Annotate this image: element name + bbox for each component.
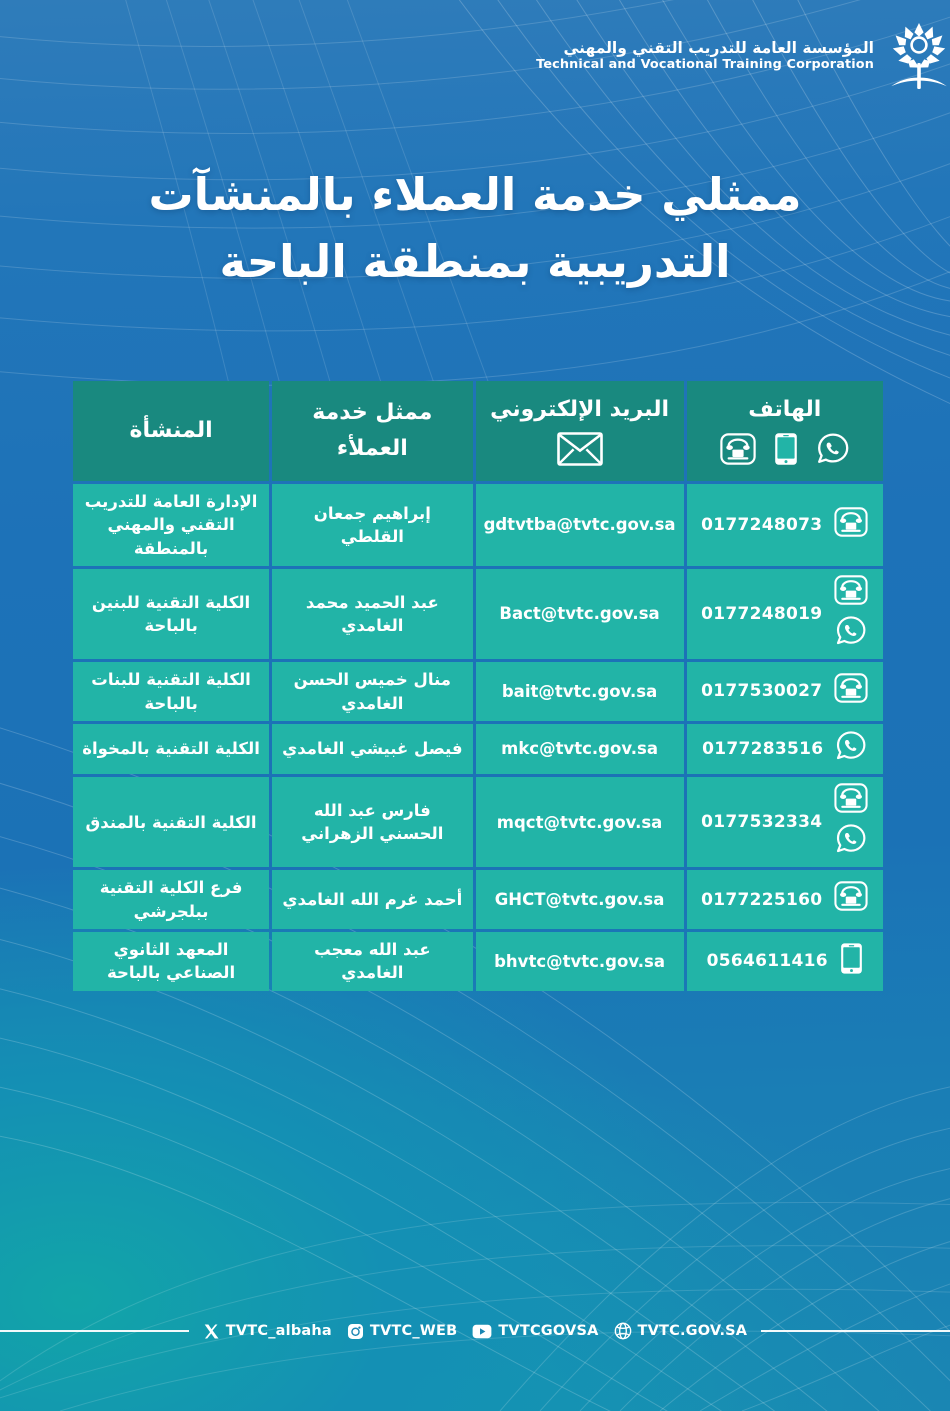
cell-email[interactable]: GHCT@tvtc.gov.sa	[476, 870, 684, 929]
page-title: ممثلي خدمة العملاء بالمنشآت التدريبية بم…	[0, 162, 950, 295]
table-row: 0177530027bait@tvtc.gov.saمنال خميس الحس…	[73, 662, 883, 721]
social-link-label: TVTC.GOV.SA	[638, 1323, 748, 1339]
cell-phone[interactable]: 0177283516	[687, 724, 883, 774]
cell-email[interactable]: bait@tvtc.gov.sa	[476, 662, 684, 721]
contacts-table: الهاتف	[70, 378, 886, 994]
phone-number[interactable]: 0564611416	[707, 949, 828, 973]
cell-phone[interactable]: 0177248019	[687, 569, 883, 659]
table-row: 0177248073gdtvtba@tvtc.gov.saإبراهيم جمع…	[73, 484, 883, 566]
phone-cell-content: 0177532334	[695, 783, 875, 861]
phone-icon-group	[834, 881, 868, 917]
column-header-email: البريد الإلكتروني	[476, 381, 684, 481]
telephone-icon	[834, 575, 868, 611]
footer-rule-right	[761, 1330, 950, 1332]
telephone-icon	[834, 881, 868, 917]
cell-phone[interactable]: 0177532334	[687, 777, 883, 867]
mobile-icon	[774, 432, 798, 466]
phone-number[interactable]: 0177225160	[701, 888, 822, 912]
column-header-entity: المنشأة	[73, 381, 269, 481]
phone-number[interactable]: 0177248073	[701, 513, 822, 537]
social-link-label: TVTC_WEB	[370, 1323, 457, 1339]
instagram-icon	[347, 1323, 364, 1340]
phone-icon-group	[834, 507, 868, 543]
brand-name-english: Technical and Vocational Training Corpor…	[536, 58, 874, 72]
phone-cell-content: 0177283516	[695, 730, 875, 768]
social-links: TVTC_albahaTVTC_WEBTVTCGOVSATVTC.GOV.SA	[189, 1322, 761, 1340]
phone-number[interactable]: 0177248019	[701, 602, 822, 626]
phone-icon-group	[834, 783, 868, 861]
social-link[interactable]: TVTC.GOV.SA	[614, 1322, 748, 1340]
social-link[interactable]: TVTC_albaha	[203, 1323, 332, 1340]
footer-rule-left	[0, 1330, 189, 1332]
phone-icon-group	[834, 673, 868, 709]
cell-phone[interactable]: 0177248073	[687, 484, 883, 566]
header-bar: المؤسسة العامة للتدريب التقني والمهني Te…	[0, 0, 950, 112]
phone-cell-content: 0177248019	[695, 575, 875, 653]
page-title-line-1: ممثلي خدمة العملاء بالمنشآت	[60, 162, 890, 229]
whatsapp-icon	[835, 823, 867, 861]
cell-entity: المعهد الثانوي الصناعي بالباحة	[73, 932, 269, 991]
cell-representative: أحمد غرم الله الغامدي	[272, 870, 472, 929]
table-header-row: الهاتف	[73, 381, 883, 481]
brand-name-arabic: المؤسسة العامة للتدريب التقني والمهني	[536, 40, 874, 57]
poster-canvas: المؤسسة العامة للتدريب التقني والمهني Te…	[0, 0, 950, 1411]
brand-lockup: المؤسسة العامة للتدريب التقني والمهني Te…	[536, 19, 950, 93]
social-link-label: TVTC_albaha	[226, 1323, 332, 1339]
column-header-phone: الهاتف	[687, 381, 883, 481]
cell-representative: منال خميس الحسن الغامدي	[272, 662, 472, 721]
column-header-representative: ممثل خدمة العملأء	[272, 381, 472, 481]
column-header-email-label: البريد الإلكتروني	[490, 396, 669, 425]
cell-entity: الكلية التقنية بالمخواة	[73, 724, 269, 774]
cell-email[interactable]: mqct@tvtc.gov.sa	[476, 777, 684, 867]
phone-cell-content: 0177225160	[695, 881, 875, 917]
phone-cell-content: 0564611416	[695, 942, 875, 981]
brand-text: المؤسسة العامة للتدريب التقني والمهني Te…	[536, 40, 874, 72]
telephone-icon	[834, 673, 868, 709]
x-twitter-icon	[203, 1323, 220, 1340]
phone-icon-group	[835, 730, 867, 768]
column-header-representative-line-1: ممثل خدمة	[312, 399, 432, 428]
cell-email[interactable]: bhvtc@tvtc.gov.sa	[476, 932, 684, 991]
website-globe-icon	[614, 1322, 632, 1340]
phone-icon-group	[834, 575, 868, 653]
cell-representative: إبراهيم جمعان القلطي	[272, 484, 472, 566]
youtube-icon	[472, 1324, 492, 1339]
telephone-icon	[720, 433, 756, 465]
social-link[interactable]: TVTCGOVSA	[472, 1323, 598, 1339]
social-link-label: TVTCGOVSA	[498, 1323, 598, 1339]
social-link[interactable]: TVTC_WEB	[347, 1323, 457, 1340]
phone-cell-content: 0177248073	[695, 507, 875, 543]
column-header-phone-label: الهاتف	[748, 396, 821, 425]
phone-number[interactable]: 0177530027	[701, 679, 822, 703]
cell-phone[interactable]: 0177530027	[687, 662, 883, 721]
whatsapp-icon	[816, 432, 850, 466]
telephone-icon	[834, 783, 868, 819]
phone-icon-group	[840, 942, 863, 981]
table-row: 0177283516mkc@tvtc.gov.saفيصل غبيشي الغا…	[73, 724, 883, 774]
column-header-representative-line-2: العملأء	[337, 435, 408, 464]
whatsapp-icon	[835, 615, 867, 653]
cell-representative: فارس عبد الله الحسني الزهراني	[272, 777, 472, 867]
mobile-icon	[840, 942, 863, 981]
telephone-icon	[834, 507, 868, 543]
cell-email[interactable]: mkc@tvtc.gov.sa	[476, 724, 684, 774]
table-row: 0177532334mqct@tvtc.gov.saفارس عبد الله …	[73, 777, 883, 867]
cell-email[interactable]: Bact@tvtc.gov.sa	[476, 569, 684, 659]
cell-representative: عبد الحميد محمد الغامدي	[272, 569, 472, 659]
page-title-line-2: التدريبية بمنطقة الباحة	[60, 229, 890, 296]
phone-number[interactable]: 0177283516	[702, 737, 823, 761]
phone-header-icon-group	[720, 432, 850, 466]
cell-phone[interactable]: 0564611416	[687, 932, 883, 991]
cell-entity: الكلية التقنية للبنات بالباحة	[73, 662, 269, 721]
table-row: 0177225160GHCT@tvtc.gov.saأحمد غرم الله …	[73, 870, 883, 929]
table-row: 0177248019Bact@tvtc.gov.saعبد الحميد محم…	[73, 569, 883, 659]
phone-cell-content: 0177530027	[695, 673, 875, 709]
table-body: 0177248073gdtvtba@tvtc.gov.saإبراهيم جمع…	[73, 484, 883, 991]
whatsapp-icon	[835, 730, 867, 768]
cell-email[interactable]: gdtvtba@tvtc.gov.sa	[476, 484, 684, 566]
cell-representative: عبد الله معجب الغامدي	[272, 932, 472, 991]
envelope-icon	[557, 432, 603, 466]
cell-entity: فرع الكلية التقنية ببلجرشي	[73, 870, 269, 929]
table-row: 0564611416bhvtc@tvtc.gov.saعبد الله معجب…	[73, 932, 883, 991]
cell-phone[interactable]: 0177225160	[687, 870, 883, 929]
cell-entity: الكلية التقنية بالمندق	[73, 777, 269, 867]
tvtc-flower-emblem-icon	[888, 19, 950, 93]
cell-entity: الكلية التقنية للبنين بالباحة	[73, 569, 269, 659]
phone-number[interactable]: 0177532334	[701, 810, 822, 834]
table-header: الهاتف	[73, 381, 883, 481]
footer-social-bar: TVTC_albahaTVTC_WEBTVTCGOVSATVTC.GOV.SA	[0, 1322, 950, 1340]
contacts-table-container: الهاتف	[70, 378, 886, 994]
cell-entity: الإدارة العامة للتدريب التقني والمهني با…	[73, 484, 269, 566]
cell-representative: فيصل غبيشي الغامدي	[272, 724, 472, 774]
